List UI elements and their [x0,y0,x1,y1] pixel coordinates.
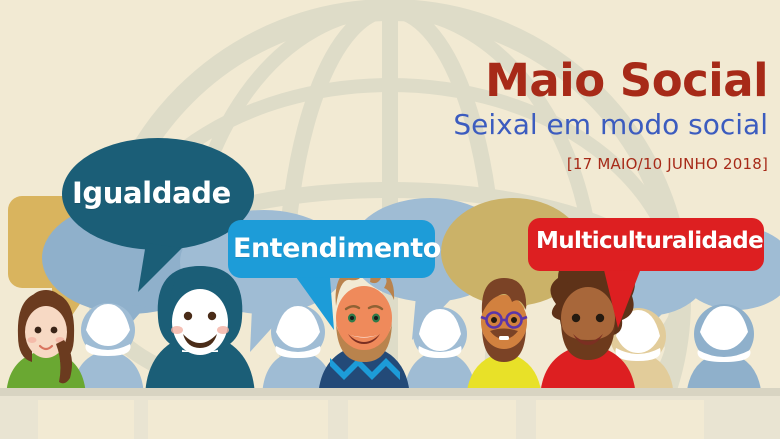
headline-block: Maio Social Seixal em modo social [17 MA… [348,56,768,174]
event-dates: [17 MAIO/10 JUNHO 2018] [348,154,768,174]
speech-bubble-label-multiculturalidade: Multiculturalidade [536,228,763,254]
speech-bubble-label-igualdade: Igualdade [72,176,231,210]
page-title: Maio Social [348,56,768,106]
speech-bubble-label-entendimento: Entendimento [233,233,441,264]
speech-bubble-igualdade[interactable] [62,138,254,292]
poster-banner: Igualdade Entendimento Multiculturalidad… [0,0,780,439]
page-subtitle: Seixal em modo social [348,108,768,142]
